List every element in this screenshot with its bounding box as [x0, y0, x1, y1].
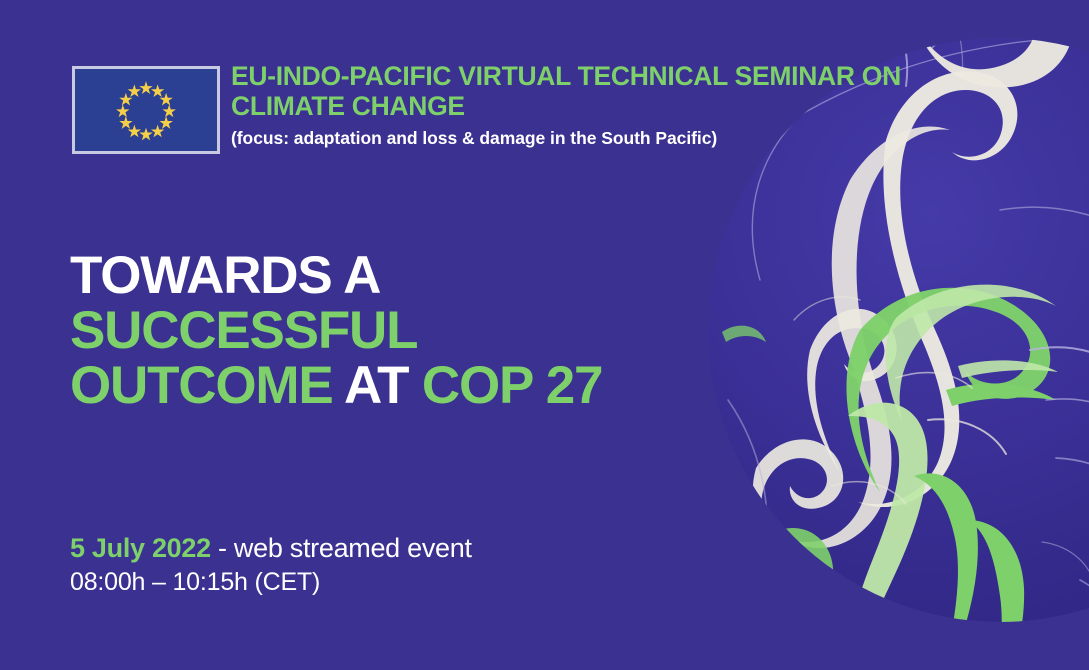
- headline-cop27: COP 27: [422, 356, 602, 415]
- headline-outcome: OUTCOME: [70, 356, 332, 415]
- event-date: 5 July 2022: [70, 533, 211, 563]
- seminar-header: EU-INDO-PACIFIC VIRTUAL TECHNICAL SEMINA…: [231, 61, 956, 150]
- headline-line-3: OUTCOME AT COP 27: [70, 358, 690, 413]
- headline-at: AT: [332, 356, 421, 415]
- event-separator: -: [211, 533, 234, 563]
- headline-line-2: SUCCESSFUL: [70, 303, 690, 358]
- headline-line-1: TOWARDS A: [70, 248, 690, 303]
- seminar-focus-note: (focus: adaptation and loss & damage in …: [231, 126, 956, 150]
- event-details: 5 July 2022 - web streamed event 08:00h …: [70, 531, 690, 599]
- event-time: 08:00h – 10:15h (CET): [70, 566, 690, 599]
- eu-flag-stars: [75, 69, 217, 151]
- event-date-line: 5 July 2022 - web streamed event: [70, 531, 690, 565]
- poster-headline: TOWARDS A SUCCESSFUL OUTCOME AT COP 27: [70, 248, 690, 413]
- poster-canvas: EU-INDO-PACIFIC VIRTUAL TECHNICAL SEMINA…: [0, 0, 1089, 670]
- seminar-title-line-1: EU-INDO-PACIFIC VIRTUAL TECHNICAL SEMINA…: [231, 61, 956, 91]
- event-mode: web streamed event: [234, 533, 472, 563]
- european-union-flag: [72, 66, 220, 154]
- seminar-title-line-2: CLIMATE CHANGE: [231, 91, 956, 121]
